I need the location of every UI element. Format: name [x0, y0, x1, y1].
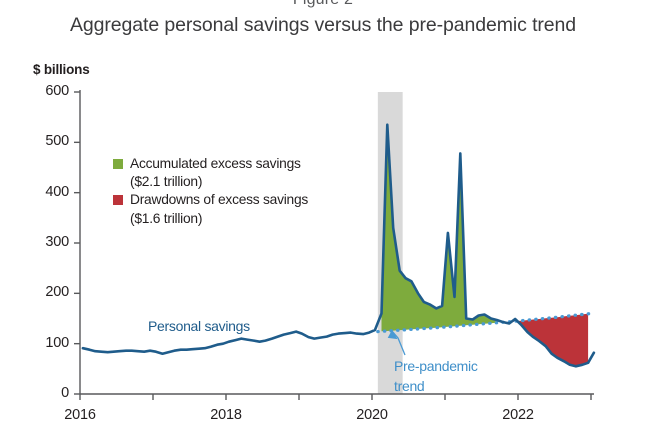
x-axis-tick-label: 2020	[342, 407, 402, 423]
y-axis-tick-label: 200	[27, 284, 69, 300]
legend-sublabel-accumulated: ($2.1 trillion)	[130, 173, 308, 191]
annotation-pre-pandemic-trend-line1: Pre-pandemic	[394, 356, 478, 376]
legend-item-drawdown: Drawdowns of excess savings	[113, 191, 308, 209]
y-axis-tick-label: 0	[27, 385, 69, 401]
savings-area-chart	[0, 0, 646, 447]
y-axis-tick-label: 100	[27, 335, 69, 351]
chart-legend: Accumulated excess savings ($2.1 trillio…	[113, 155, 308, 228]
x-axis-tick-label: 2016	[50, 407, 110, 423]
annotation-personal-savings: Personal savings	[148, 318, 250, 334]
y-axis-tick-label: 400	[27, 184, 69, 200]
legend-swatch-accumulated	[113, 159, 123, 169]
legend-swatch-drawdown	[113, 195, 123, 205]
legend-sublabel-drawdown: ($1.6 trillion)	[130, 210, 308, 228]
legend-label-drawdown: Drawdowns of excess savings	[130, 191, 308, 209]
y-axis-tick-label: 500	[27, 133, 69, 149]
legend-label-accumulated: Accumulated excess savings	[130, 155, 301, 173]
x-axis-tick-label: 2018	[196, 407, 256, 423]
figure-container: Figure 2 Aggregate personal savings vers…	[0, 0, 646, 447]
y-axis-tick-label: 600	[27, 83, 69, 99]
annotation-pre-pandemic-trend-line2: trend	[394, 376, 478, 396]
legend-item-accumulated: Accumulated excess savings	[113, 155, 308, 173]
x-axis-tick-label: 2022	[488, 407, 548, 423]
annotation-pre-pandemic-trend: Pre-pandemic trend	[394, 356, 478, 397]
y-axis-tick-label: 300	[27, 234, 69, 250]
